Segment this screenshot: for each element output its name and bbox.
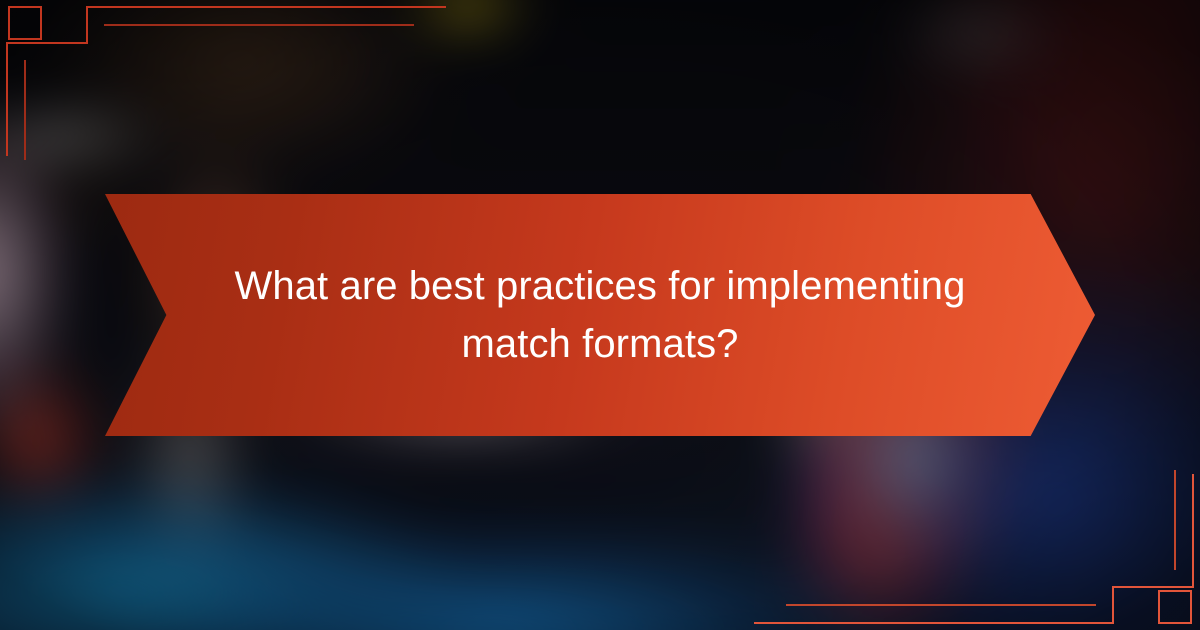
question-text: What are best practices for implementing… (185, 257, 1015, 373)
corner-line-vertical-outer (6, 44, 8, 156)
question-card: What are best practices for implementing… (0, 0, 1200, 630)
corner-line-horizontal-inner (786, 604, 1096, 606)
corner-line-horizontal-outer (754, 622, 1114, 624)
corner-line-horizontal-outer (86, 6, 446, 8)
corner-elbow-vertical (1112, 586, 1114, 624)
corner-bracket-top-left (0, 0, 170, 160)
corner-square-icon (1158, 590, 1192, 624)
corner-elbow-horizontal (1112, 586, 1194, 588)
corner-line-horizontal-inner (104, 24, 414, 26)
corner-elbow-vertical (86, 6, 88, 44)
corner-line-vertical-inner (1174, 470, 1176, 570)
corner-bracket-bottom-right (1030, 470, 1200, 630)
corner-line-vertical-inner (24, 60, 26, 160)
question-banner-text-area: What are best practices for implementing… (185, 194, 1015, 436)
corner-square-icon (8, 6, 42, 40)
corner-elbow-horizontal (6, 42, 88, 44)
corner-line-vertical-outer (1192, 474, 1194, 586)
